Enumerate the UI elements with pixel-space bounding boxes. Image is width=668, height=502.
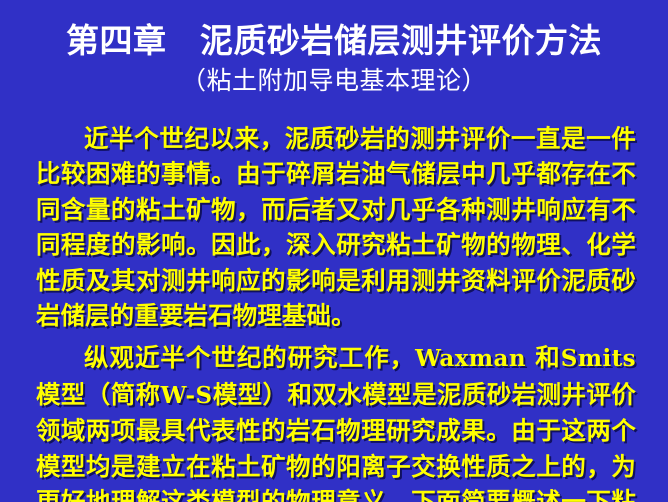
slide-title: 第四章 泥质砂岩储层测井评价方法 — [0, 20, 668, 62]
slide-subtitle: （粘土附加导电基本理论） — [0, 64, 668, 97]
cjk-run: 和 — [535, 343, 560, 372]
slide-body: 近半个世纪以来，泥质砂岩的测井评价一直是一件比较困难的事情。由于碎屑岩油气储层中… — [36, 121, 636, 502]
latin-term: W-S — [161, 382, 213, 409]
body-paragraph-2: 纵观近半个世纪的研究工作，Waxman 和Smits模型（简称W-S模型）和双水… — [36, 340, 636, 502]
latin-term: Smits — [561, 345, 636, 372]
body-paragraph-1: 近半个世纪以来，泥质砂岩的测井评价一直是一件比较困难的事情。由于碎屑岩油气储层中… — [36, 121, 636, 333]
cjk-run: 纵观近半个世纪的研究工作， — [84, 343, 415, 372]
latin-term: Waxman — [415, 345, 535, 372]
presentation-slide: 第四章 泥质砂岩储层测井评价方法 （粘土附加导电基本理论） 近半个世纪以来，泥质… — [0, 0, 668, 502]
cjk-run: 模型（简称 — [36, 380, 161, 409]
title-block: 第四章 泥质砂岩储层测井评价方法 （粘土附加导电基本理论） — [0, 20, 668, 97]
